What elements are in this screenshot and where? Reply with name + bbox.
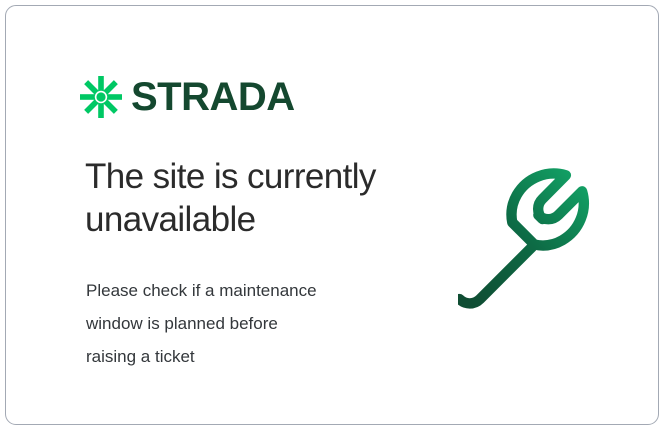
asterisk-starburst-icon bbox=[80, 76, 122, 118]
description-line: raising a ticket bbox=[86, 340, 386, 373]
brand-logo: STRADA bbox=[80, 73, 295, 121]
page-title: The site is currently unavailable bbox=[85, 156, 415, 241]
maintenance-page: STRADA The site is currently unavailable… bbox=[0, 0, 666, 436]
brand-wordmark: STRADA bbox=[131, 77, 295, 117]
notice-card: STRADA The site is currently unavailable… bbox=[5, 5, 659, 425]
wrench-icon bbox=[458, 156, 620, 318]
description-line: window is planned before bbox=[86, 307, 386, 340]
description-line: Please check if a maintenance bbox=[86, 274, 386, 307]
page-description: Please check if a maintenance window is … bbox=[86, 274, 386, 373]
